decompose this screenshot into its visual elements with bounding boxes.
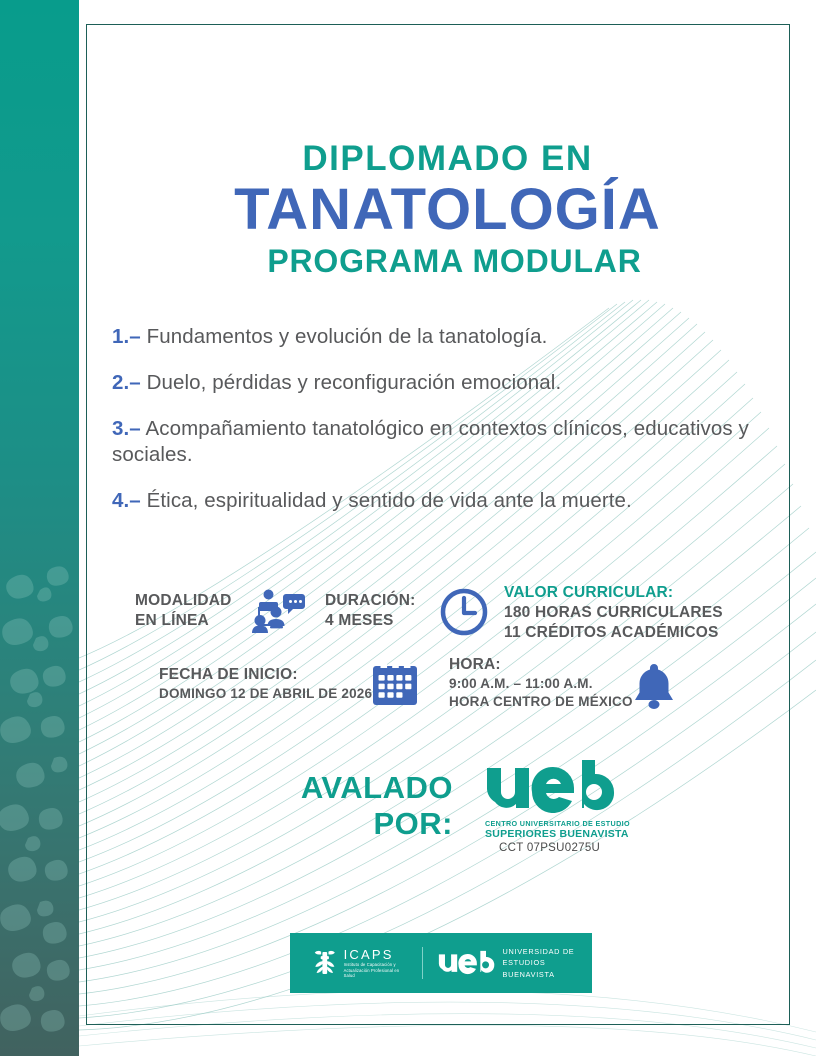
module-number: 4.– bbox=[112, 489, 141, 512]
icaps-logo: ICAPS Instituto de Capacitación y Actual… bbox=[312, 947, 406, 980]
fecha-value: DOMINGO 12 DE ABRIL DE 2026 bbox=[159, 685, 372, 703]
info-row-2: FECHA DE INICIO: DOMINGO 12 DE ABRIL DE … bbox=[79, 651, 816, 723]
ueb-footer-text: UNIVERSIDAD DE ESTUDIOS BUENAVISTA bbox=[503, 946, 592, 980]
poster-content: DIPLOMADO EN TANATOLOGÍA PROGRAMA MODULA… bbox=[79, 0, 816, 1056]
header-line-1: DIPLOMADO EN bbox=[79, 140, 816, 177]
module-text: Fundamentos y evolución de la tanatologí… bbox=[147, 325, 548, 348]
header-line-2: TANATOLOGÍA bbox=[79, 179, 816, 240]
endorsement-text: AVALADO POR: bbox=[263, 770, 453, 842]
module-text: Ética, espiritualidad y sentido de vida … bbox=[147, 489, 632, 512]
fecha-inicio-cell: FECHA DE INICIO: DOMINGO 12 DE ABRIL DE … bbox=[159, 665, 372, 703]
fecha-label: FECHA DE INICIO: bbox=[159, 665, 372, 685]
clock-icon bbox=[438, 586, 490, 643]
ueb-footer-line-1: UNIVERSIDAD DE bbox=[503, 946, 592, 957]
header-line-3: PROGRAMA MODULAR bbox=[79, 245, 816, 279]
valor-label: VALOR CURRICULAR: bbox=[504, 583, 723, 603]
module-text: Duelo, pérdidas y reconfiguración emocio… bbox=[147, 371, 562, 394]
icaps-emblem-icon bbox=[312, 948, 338, 978]
endorsement-line-2: POR: bbox=[263, 806, 453, 842]
valor-line-2: 11 CRÉDITOS ACADÉMICOS bbox=[504, 623, 723, 643]
duracion-label: DURACIÓN: bbox=[325, 591, 416, 611]
modalidad-cell: MODALIDAD EN LÍNEA bbox=[135, 591, 232, 631]
footer-logo-bar: ICAPS Instituto de Capacitación y Actual… bbox=[290, 933, 592, 993]
ueb-logo-subtitle-1: CENTRO UNIVERSITARIO DE ESTUDIO bbox=[485, 819, 745, 828]
valor-line-1: 180 HORAS CURRICULARES bbox=[504, 603, 723, 623]
module-number: 1.– bbox=[112, 325, 141, 348]
valor-curricular-cell: VALOR CURRICULAR: 180 HORAS CURRICULARES… bbox=[504, 583, 723, 643]
ueb-logo-block: CENTRO UNIVERSITARIO DE ESTUDIO SUPERIOR… bbox=[485, 760, 745, 854]
icaps-name: ICAPS bbox=[344, 947, 406, 962]
endorsement-line-1: AVALADO bbox=[263, 770, 453, 806]
hora-label: HORA: bbox=[449, 655, 633, 675]
hora-line-2: HORA CENTRO DE MÉXICO bbox=[449, 693, 633, 711]
module-number: 3.– bbox=[112, 417, 141, 440]
header-titles: DIPLOMADO EN TANATOLOGÍA PROGRAMA MODULA… bbox=[79, 0, 816, 278]
video-conference-icon bbox=[250, 585, 306, 646]
module-item: 2.– Duelo, pérdidas y reconfiguración em… bbox=[112, 370, 772, 397]
footer-divider bbox=[422, 947, 423, 979]
module-item: 1.– Fundamentos y evolución de la tanato… bbox=[112, 324, 772, 351]
info-section: MODALIDAD EN LÍNEA bbox=[79, 575, 816, 723]
info-row-1: MODALIDAD EN LÍNEA bbox=[79, 575, 816, 651]
hora-line-1: 9:00 A.M. – 11:00 A.M. bbox=[449, 675, 633, 693]
left-decorative-band bbox=[0, 0, 79, 1056]
hora-cell: HORA: 9:00 A.M. – 11:00 A.M. HORA CENTRO… bbox=[449, 655, 633, 710]
duracion-cell: DURACIÓN: 4 MESES bbox=[325, 591, 416, 631]
bell-icon bbox=[627, 659, 681, 718]
ueb-footer-logo: UNIVERSIDAD DE ESTUDIOS BUENAVISTA bbox=[438, 946, 592, 980]
icaps-tagline-2: Actualización Profesional en Salud bbox=[344, 968, 406, 980]
ueb-footer-icon bbox=[438, 950, 495, 975]
cct-code: CCT 07PSU0275U bbox=[485, 842, 745, 854]
ueb-logo-subtitle-2: SUPERIORES BUENAVISTA bbox=[485, 828, 745, 840]
leopard-pattern bbox=[0, 560, 79, 1056]
modalidad-label: MODALIDAD bbox=[135, 591, 232, 611]
module-list: 1.– Fundamentos y evolución de la tanato… bbox=[112, 324, 772, 514]
module-item: 4.– Ética, espiritualidad y sentido de v… bbox=[112, 488, 772, 515]
module-number: 2.– bbox=[112, 371, 141, 394]
ueb-logo-icon bbox=[485, 760, 615, 813]
module-item: 3.– Acompañamiento tanatológico en conte… bbox=[112, 416, 772, 469]
module-text: Acompañamiento tanatológico en contextos… bbox=[112, 417, 749, 467]
ueb-footer-line-2: ESTUDIOS BUENAVISTA bbox=[503, 957, 592, 980]
icaps-text: ICAPS Instituto de Capacitación y Actual… bbox=[344, 947, 406, 980]
duracion-value: 4 MESES bbox=[325, 611, 416, 631]
modalidad-value: EN LÍNEA bbox=[135, 611, 232, 631]
calendar-icon bbox=[371, 659, 419, 712]
